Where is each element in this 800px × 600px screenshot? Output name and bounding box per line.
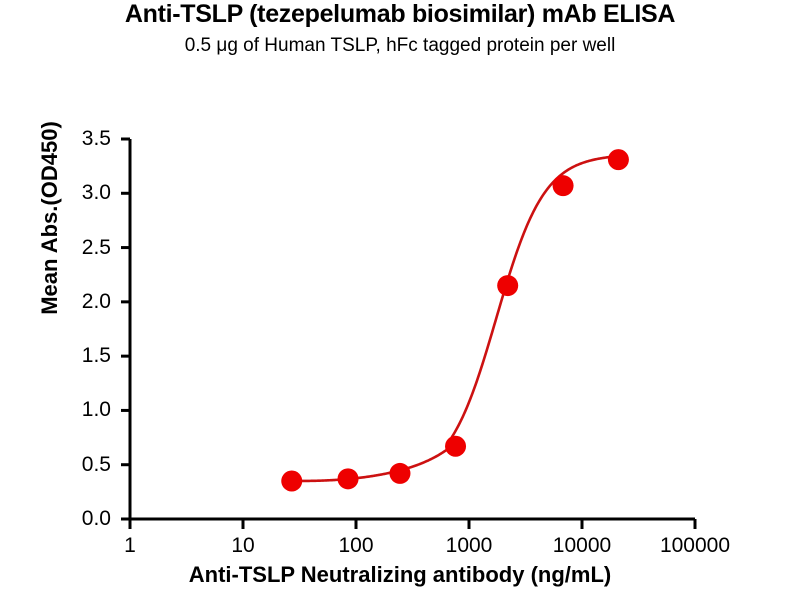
plot-area: 0.00.51.01.52.02.53.03.51101001000100001… <box>0 0 800 600</box>
fit-curve-group <box>292 156 619 481</box>
x-tick-label: 100 <box>296 535 416 556</box>
x-tick-label: 10 <box>183 535 303 556</box>
data-point-marker <box>608 149 629 170</box>
data-point-marker <box>338 468 359 489</box>
data-point-marker <box>445 436 466 457</box>
x-axis-label: Anti-TSLP Neutralizing antibody (ng/mL) <box>0 562 800 588</box>
x-tick-label: 1000 <box>409 535 529 556</box>
data-points-group <box>281 149 629 491</box>
y-tick-label: 1.0 <box>51 399 111 420</box>
y-tick-label: 0.5 <box>51 454 111 475</box>
data-point-marker <box>281 471 302 492</box>
y-tick-label: 0.0 <box>51 508 111 529</box>
x-tick-label: 1 <box>70 535 190 556</box>
data-point-marker <box>553 175 574 196</box>
chart-canvas <box>0 0 800 600</box>
sigmoid-fit-curve <box>292 156 619 481</box>
data-point-marker <box>389 463 410 484</box>
elisa-chart-figure: Anti-TSLP (tezepelumab biosimilar) mAb E… <box>0 0 800 600</box>
x-tick-label: 10000 <box>522 535 642 556</box>
data-point-marker <box>497 275 518 296</box>
y-axis-label: Mean Abs.(OD450) <box>37 63 63 373</box>
x-tick-label: 100000 <box>635 535 755 556</box>
